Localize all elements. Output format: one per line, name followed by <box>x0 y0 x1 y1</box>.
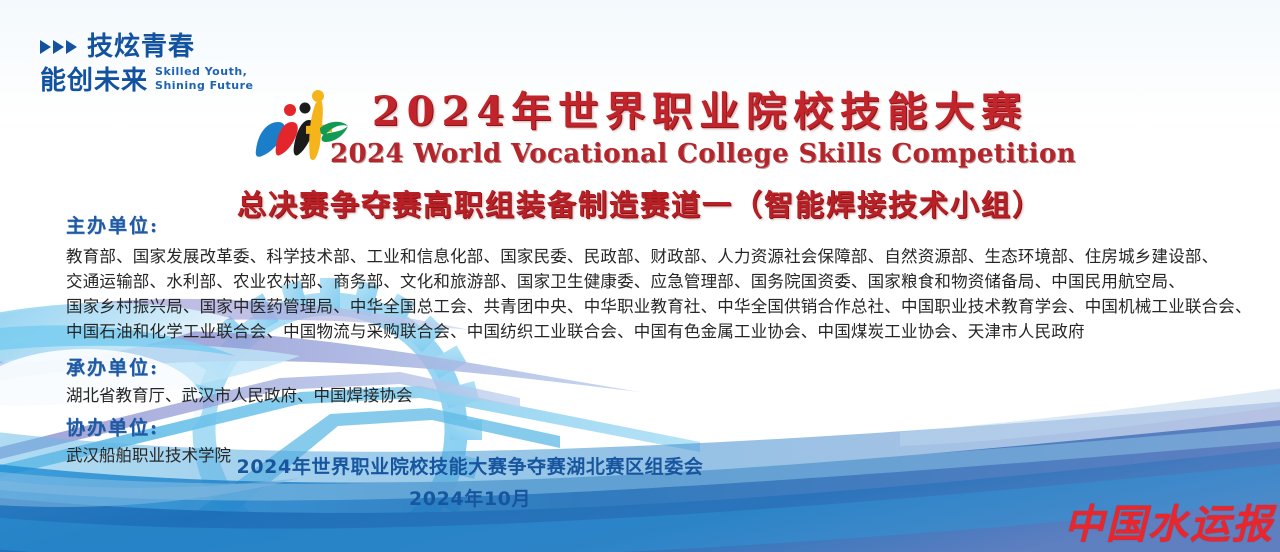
committee-date: 2024年10月 <box>0 484 940 511</box>
committee-name: 2024年世界职业院校技能大赛争夺赛湖北赛区组委会 <box>0 452 940 479</box>
page-title-english: 2024 World Vocational College Skills Com… <box>330 139 1070 169</box>
title-block: 2024年世界职业院校技能大赛 2024 World Vocational Co… <box>330 88 1070 169</box>
slogan-row-2: 能创未来 Skilled Youth, Shining Future <box>40 65 253 94</box>
host-line: 国家乡村振兴局、国家中医药管理局、中华全国总工会、共青团中央、中华职业教育社、中… <box>66 294 1226 319</box>
host-lines: 教育部、国家发展改革委、科学技术部、工业和信息化部、国家民委、民政部、财政部、人… <box>66 244 1226 344</box>
triple-arrow-icon <box>40 40 77 54</box>
host-line: 交通运输部、水利部、农业农村部、商务部、文化和旅游部、国家卫生健康委、应急管理部… <box>66 269 1226 294</box>
slogan-english: Skilled Youth, Shining Future <box>155 65 253 94</box>
page-title: 2024年世界职业院校技能大赛 <box>330 88 1070 135</box>
host-line: 教育部、国家发展改革委、科学技术部、工业和信息化部、国家民委、民政部、财政部、人… <box>66 244 1226 269</box>
host-label: 主办单位: <box>66 211 1226 238</box>
slogan-logo: 技炫青春 能创未来 Skilled Youth, Shining Future <box>40 34 253 94</box>
watermark: 中国水运报 <box>1064 492 1274 550</box>
organizer-body: 湖北省教育厅、武汉市人民政府、中国焊接协会 <box>66 383 1226 408</box>
organizers-area: 主办单位: 教育部、国家发展改革委、科学技术部、工业和信息化部、国家民委、民政部… <box>66 211 1226 468</box>
footer-block: 2024年世界职业院校技能大赛争夺赛湖北赛区组委会 2024年10月 <box>0 452 940 511</box>
slogan-line-2: 能创未来 <box>40 68 148 94</box>
slogan-row-1: 技炫青春 <box>40 34 253 60</box>
slogan-english-line-1: Skilled Youth, <box>155 65 247 78</box>
slogan-line-1: 技炫青春 <box>87 34 195 60</box>
host-line: 中国石油和化学工业联合会、中国物流与采购联合会、中国纺织工业联合会、中国有色金属… <box>66 319 1226 344</box>
organizer-label: 承办单位: <box>66 353 1226 380</box>
co-organizer-label: 协办单位: <box>66 413 1226 440</box>
organizer-section: 承办单位: 湖北省教育厅、武汉市人民政府、中国焊接协会 <box>66 353 1226 408</box>
slogan-english-line-2: Shining Future <box>155 79 253 92</box>
host-section: 主办单位: 教育部、国家发展改革委、科学技术部、工业和信息化部、国家民委、民政部… <box>66 211 1226 344</box>
competition-banner: 技炫青春 能创未来 Skilled Youth, Shining Future <box>0 0 1280 552</box>
